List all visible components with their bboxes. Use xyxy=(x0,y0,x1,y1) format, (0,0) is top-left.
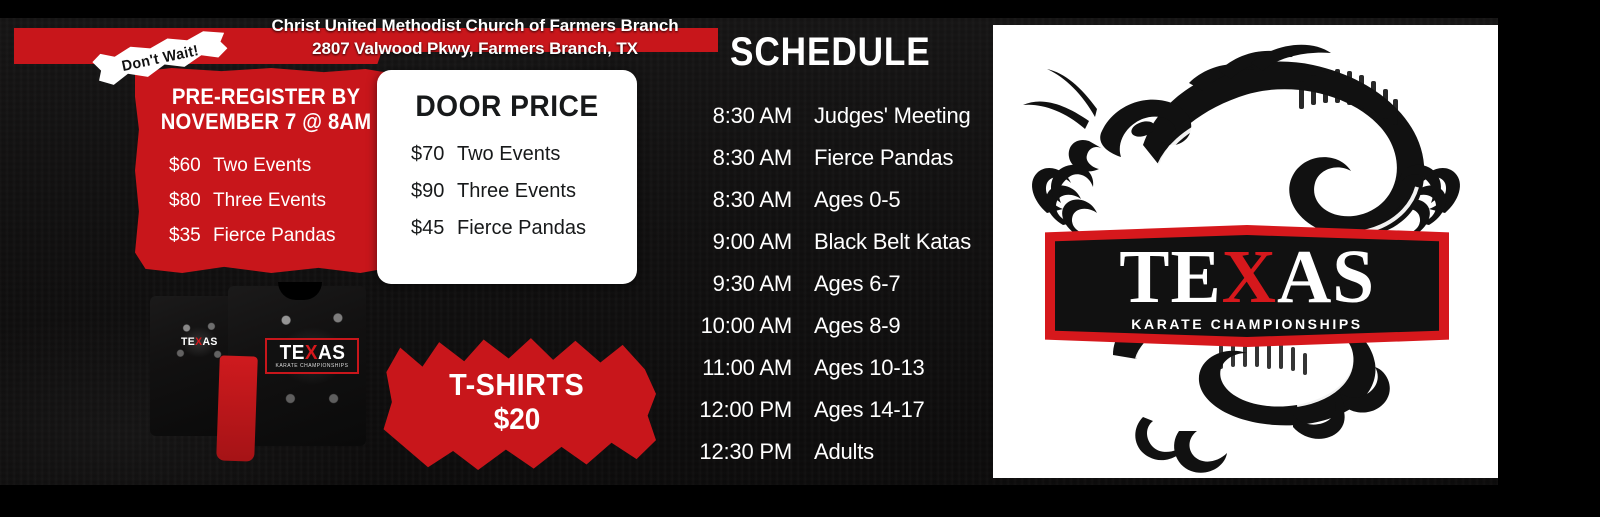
schedule-event: Fierce Pandas xyxy=(792,137,995,179)
venue-name: Christ United Methodist Church of Farmer… xyxy=(215,14,735,37)
tshirt-price-content: T-Shirts $20 xyxy=(378,334,656,470)
bottom-black-bar xyxy=(0,485,1600,517)
table-row: 11:00 AM Ages 10-13 xyxy=(660,347,995,389)
price-label: Fierce Pandas xyxy=(457,217,586,239)
logo-x: X xyxy=(1221,235,1276,319)
price-amount: $60 xyxy=(169,148,213,183)
list-item: $60Two Events xyxy=(169,148,397,183)
table-row: 9:00 AM Black Belt Katas xyxy=(660,221,995,263)
door-price-list: $70Two Events $90Three Events $45Fierce … xyxy=(377,136,637,247)
pre-register-title: Pre-Register by November 7 @ 8AM xyxy=(145,68,386,134)
tshirt-photos: TEXAS TEXAS KARATE CHAMPIONSHIPS xyxy=(110,282,400,482)
price-amount: $35 xyxy=(169,218,213,253)
table-row: 12:30 PM Adults xyxy=(660,431,995,473)
schedule-event: Ages 14-17 xyxy=(792,389,995,431)
tshirt-logo-subtitle: KARATE CHAMPIONSHIPS xyxy=(276,363,349,370)
schedule-time: 8:30 AM xyxy=(660,95,792,137)
logo-te: TE xyxy=(181,336,195,348)
schedule-event: Adults xyxy=(792,431,995,473)
tshirt-price-line2: $20 xyxy=(494,403,541,437)
schedule-event: Ages 10-13 xyxy=(792,347,995,389)
schedule-event: Ages 6-7 xyxy=(792,263,995,305)
price-amount: $80 xyxy=(169,183,213,218)
logo-x: X xyxy=(195,336,202,348)
door-price-title: Door Price xyxy=(385,70,629,124)
schedule-event: Black Belt Katas xyxy=(792,221,995,263)
pre-register-title-line1: Pre-Register by xyxy=(145,84,386,109)
list-item: $35Fierce Pandas xyxy=(169,218,397,253)
logo-artwork: TEXAS KARATE CHAMPIONSHIPS xyxy=(993,25,1498,478)
championship-logo-panel: TEXAS KARATE CHAMPIONSHIPS xyxy=(993,25,1498,478)
right-black-bar xyxy=(1498,0,1600,517)
logo-banner: TEXAS KARATE CHAMPIONSHIPS xyxy=(1045,225,1449,347)
schedule-time: 8:30 AM xyxy=(660,179,792,221)
door-price-card: Door Price $70Two Events $90Three Events… xyxy=(377,70,637,284)
schedule-time: 9:30 AM xyxy=(660,263,792,305)
price-label: Three Events xyxy=(213,190,326,211)
list-item: $90Three Events xyxy=(411,173,637,210)
table-row: 9:30 AM Ages 6-7 xyxy=(660,263,995,305)
logo-texas-text: TEXAS xyxy=(1119,240,1375,314)
logo-as: AS xyxy=(1277,235,1375,319)
pre-register-title-line2: November 7 @ 8AM xyxy=(145,109,386,134)
schedule-time: 10:00 AM xyxy=(660,305,792,347)
pre-register-price-list: $60Two Events $80Three Events $35Fierce … xyxy=(135,148,397,253)
tshirt-front-logo-text: TEXAS xyxy=(277,343,346,363)
tshirt-back-logo-text: TEXAS xyxy=(181,336,218,348)
price-amount: $70 xyxy=(411,136,457,173)
venue-header: Christ United Methodist Church of Farmer… xyxy=(215,14,735,60)
price-amount: $45 xyxy=(411,210,457,247)
table-row: 10:00 AM Ages 8-9 xyxy=(660,305,995,347)
tshirt-front-logo: TEXAS KARATE CHAMPIONSHIPS xyxy=(258,300,366,412)
schedule-title: Schedule xyxy=(730,30,931,74)
table-row: 12:00 PM Ages 14-17 xyxy=(660,389,995,431)
tshirt-logo-plate: TEXAS KARATE CHAMPIONSHIPS xyxy=(265,338,360,374)
logo-x: X xyxy=(304,342,317,364)
schedule-event: Ages 0-5 xyxy=(792,179,995,221)
venue-address: 2807 Valwood Pkwy, Farmers Branch, TX xyxy=(215,37,735,60)
schedule-event: Ages 8-9 xyxy=(792,305,995,347)
schedule-time: 11:00 AM xyxy=(660,347,792,389)
flyer-canvas: Christ United Methodist Church of Farmer… xyxy=(0,0,1600,517)
logo-te: TE xyxy=(279,342,304,364)
logo-banner-inner: TEXAS KARATE CHAMPIONSHIPS xyxy=(1055,234,1439,338)
logo-te: TE xyxy=(1119,235,1221,319)
logo-as: AS xyxy=(318,342,345,364)
schedule-time: 8:30 AM xyxy=(660,137,792,179)
list-item: $70Two Events xyxy=(411,136,637,173)
table-row: 8:30 AM Judges' Meeting xyxy=(660,95,995,137)
price-label: Fierce Pandas xyxy=(213,225,336,246)
list-item: $80Three Events xyxy=(169,183,397,218)
schedule-event: Judges' Meeting xyxy=(792,95,995,137)
table-row: 8:30 AM Fierce Pandas xyxy=(660,137,995,179)
table-row: 8:30 AM Ages 0-5 xyxy=(660,179,995,221)
price-amount: $90 xyxy=(411,173,457,210)
price-label: Two Events xyxy=(457,143,560,165)
schedule-time: 9:00 AM xyxy=(660,221,792,263)
price-label: Two Events xyxy=(213,155,311,176)
schedule-list: 8:30 AM Judges' Meeting 8:30 AM Fierce P… xyxy=(660,95,995,473)
pre-register-content: Pre-Register by November 7 @ 8AM $60Two … xyxy=(135,68,397,273)
list-item: $45Fierce Pandas xyxy=(411,210,637,247)
schedule-time: 12:00 PM xyxy=(660,389,792,431)
logo-as: AS xyxy=(202,336,217,348)
tshirt-red-sleeve xyxy=(216,355,258,461)
tshirt-price-line1: T-Shirts xyxy=(449,367,584,403)
schedule-time: 12:30 PM xyxy=(660,431,792,473)
price-label: Three Events xyxy=(457,180,576,202)
